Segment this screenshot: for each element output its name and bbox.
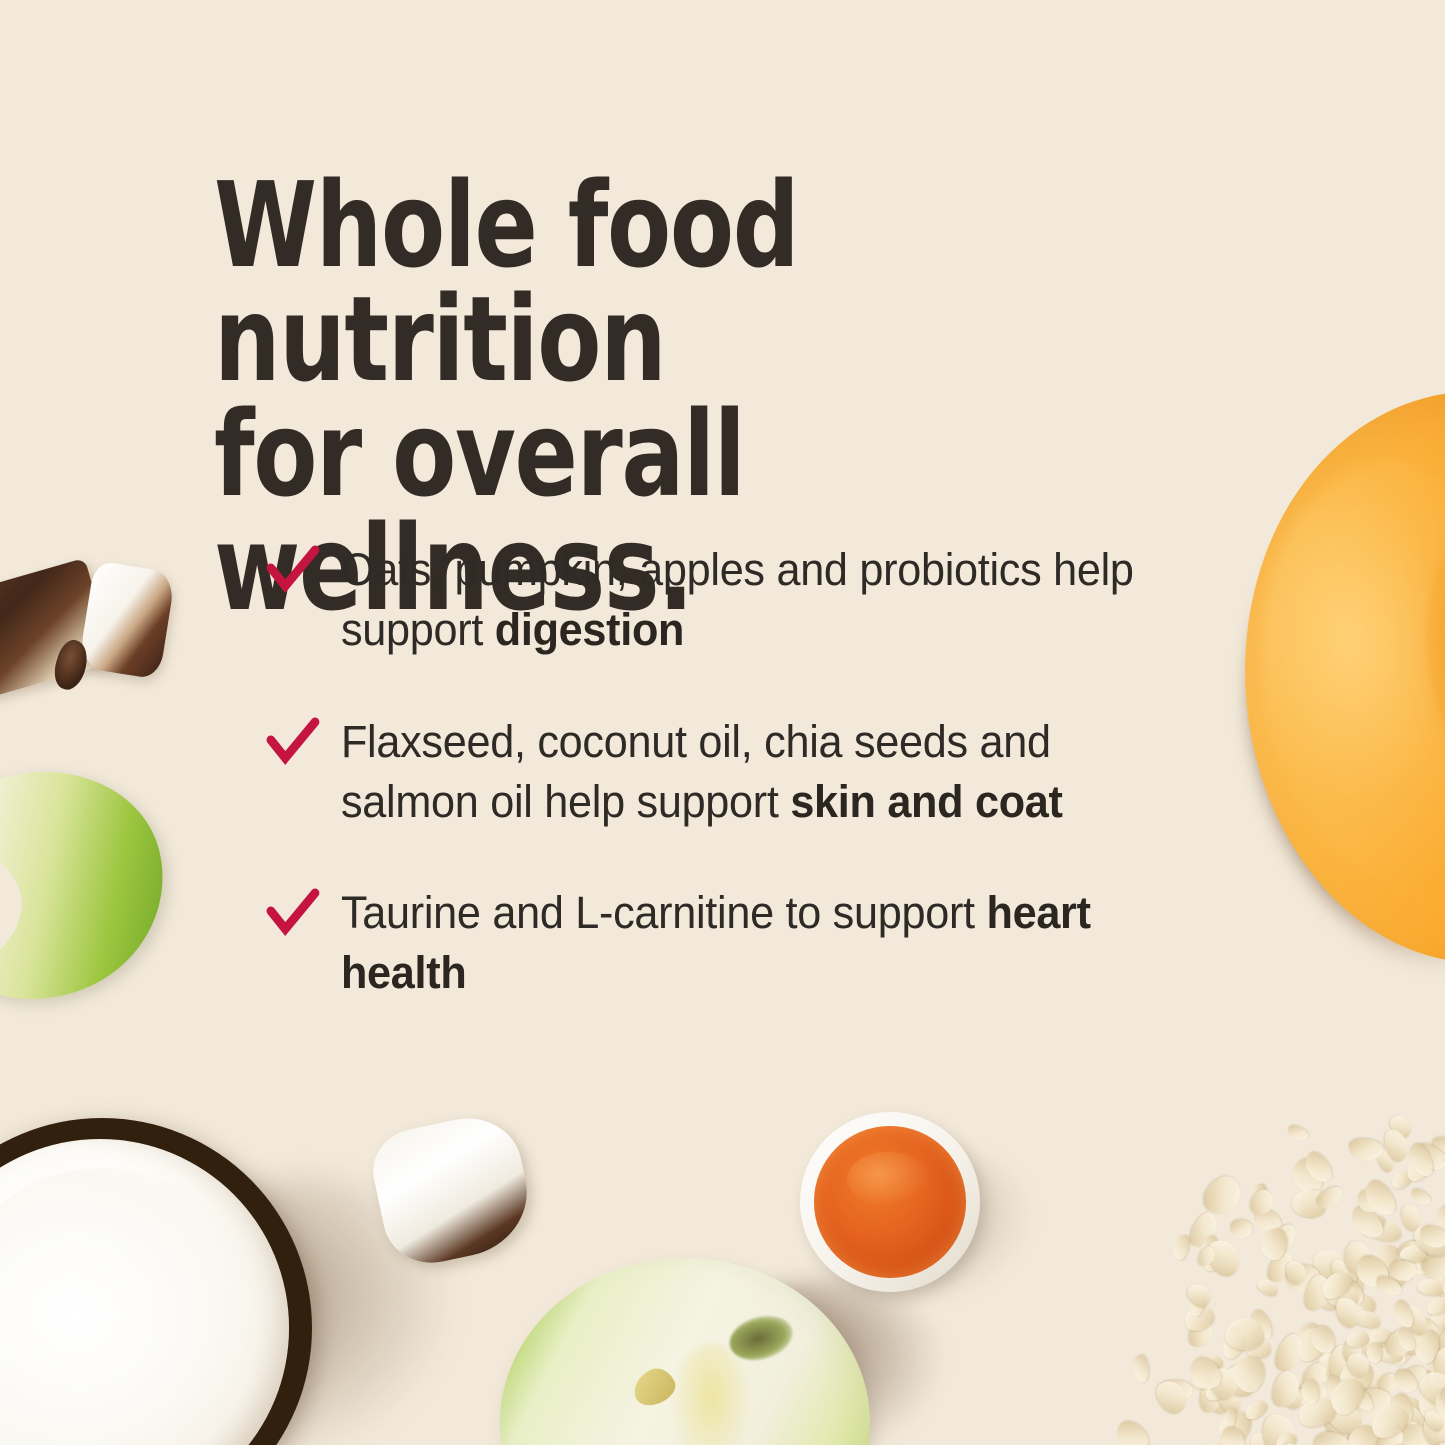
oat-flake xyxy=(1184,1279,1216,1311)
pumpkin-flesh-highlight xyxy=(1232,445,1445,910)
benefit-emphasis: digestion xyxy=(495,604,684,655)
oat-flake xyxy=(1416,1278,1445,1297)
oat-flake xyxy=(1230,1219,1253,1238)
oat-flake xyxy=(1131,1354,1149,1383)
oat-flake xyxy=(1286,1124,1310,1143)
benefit-emphasis: skin and coat xyxy=(790,776,1062,827)
apple-core xyxy=(670,1344,751,1445)
product-benefits-banner: Whole food nutritionfor overall wellness… xyxy=(0,0,1445,1445)
salmon-oil-bowl-photo xyxy=(800,1112,980,1292)
green-apple-slice-photo xyxy=(0,745,188,1025)
list-item: Taurine and L-carnitine to support heart… xyxy=(268,883,1151,1003)
oat-flake xyxy=(1367,1342,1382,1363)
list-item: Oats, pumpkin, apples and probiotics hel… xyxy=(268,540,1151,660)
check-icon xyxy=(268,720,318,766)
headline-line-1: Whole food nutrition xyxy=(214,156,798,408)
rolled-oats-photo xyxy=(1120,1095,1445,1445)
coconut-flesh-highlight xyxy=(0,1168,262,1445)
check-icon xyxy=(268,548,318,594)
check-icon xyxy=(268,891,318,937)
benefit-text: Taurine and L-carnitine to support xyxy=(341,887,987,938)
benefit-text: Oats, pumpkin, apples and probiotics hel… xyxy=(341,544,1134,655)
oil-surface-gloss xyxy=(847,1152,930,1206)
oat-flake xyxy=(1171,1233,1192,1262)
list-item: Flaxseed, coconut oil, chia seeds and sa… xyxy=(268,712,1151,832)
benefit-list: Oats, pumpkin, apples and probiotics hel… xyxy=(268,540,1188,1003)
coconut-half-photo xyxy=(0,1118,312,1445)
coconut-chunk-photo xyxy=(78,560,176,679)
oat-flake xyxy=(1110,1416,1153,1445)
pumpkin-half-photo xyxy=(1207,369,1445,992)
